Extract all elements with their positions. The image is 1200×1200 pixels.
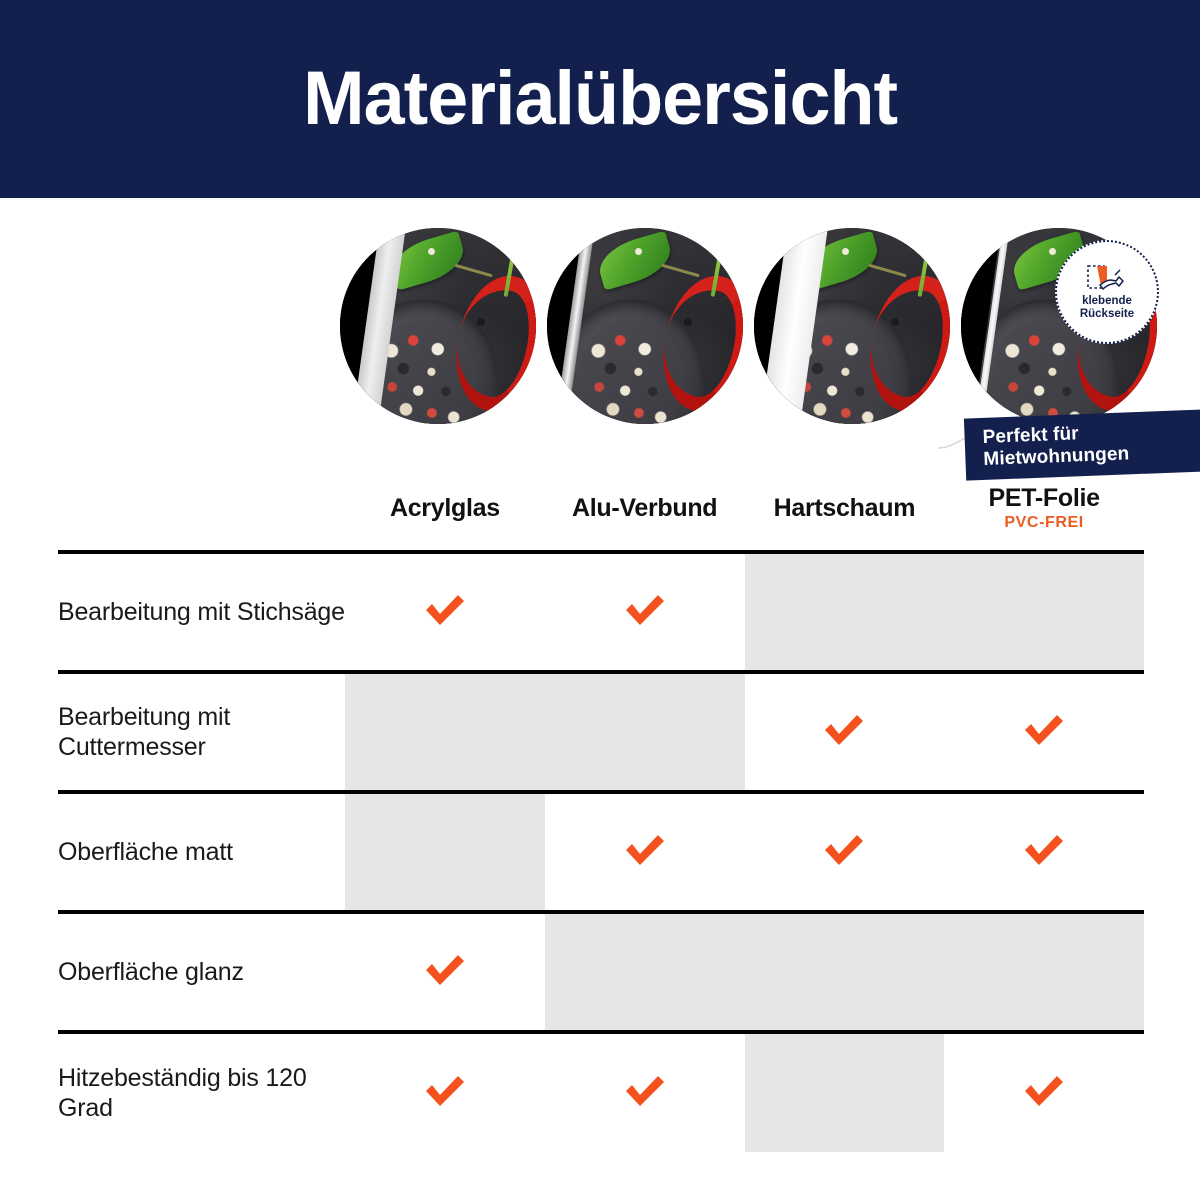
table-row: Oberfläche glanz xyxy=(58,912,1144,1032)
adhesive-badge-line1: klebende xyxy=(1082,295,1132,307)
product-photo xyxy=(547,228,743,424)
cell-stichsaege-hartschaum xyxy=(745,552,945,672)
row-label-cuttermesser: Bearbeitung mit Cuttermesser xyxy=(58,672,345,792)
row-label-stichsaege: Bearbeitung mit Stichsäge xyxy=(58,552,345,672)
rental-apartment-ribbon: Perfekt für Mietwohnungen xyxy=(964,409,1200,481)
row-label-oberflaeche-glanz: Oberfläche glanz xyxy=(58,912,345,1032)
material-comparison-table-wrapper: Acrylglas Alu-Verbund Hartschaum PET-Fol… xyxy=(58,466,1144,1152)
column-header-hartschaum: Hartschaum xyxy=(745,466,945,552)
ribbon-line1: Perfekt für xyxy=(982,423,1079,448)
leaf-stem xyxy=(661,264,699,278)
cell-matt-acrylglas xyxy=(345,792,545,912)
peeling-sticker-icon xyxy=(1086,263,1128,293)
peppercorn-speck xyxy=(635,248,642,255)
row-label-oberflaeche-matt: Oberfläche matt xyxy=(58,792,345,912)
adhesive-badge-label: klebende Rückseite xyxy=(1080,295,1134,321)
page-title: Materialübersicht xyxy=(303,61,897,137)
column-header-label: PET-Folie xyxy=(944,485,1144,511)
row-label-hitzebestaendig: Hitzebeständig bis 120 Grad xyxy=(58,1032,345,1152)
ribbon-label: Perfekt für Mietwohnungen xyxy=(982,419,1194,470)
cell-cuttermesser-pet-folie xyxy=(944,672,1144,792)
table-header-corner xyxy=(58,466,345,552)
cell-hitze-pet-folie xyxy=(944,1032,1144,1152)
check-icon xyxy=(622,591,668,629)
cell-matt-alu-verbund xyxy=(545,792,745,912)
product-thumbnail-hartschaum[interactable] xyxy=(754,228,950,424)
check-icon xyxy=(1021,831,1067,869)
product-photo xyxy=(340,228,536,424)
cell-hitze-hartschaum xyxy=(745,1032,945,1152)
column-header-label: Acrylglas xyxy=(345,495,545,521)
adhesive-backing-badge: klebende Rückseite xyxy=(1055,240,1159,344)
product-photo xyxy=(754,228,950,424)
table-row: Bearbeitung mit Stichsäge xyxy=(58,552,1144,672)
column-header-label: Alu-Verbund xyxy=(545,495,745,521)
column-header-acrylglas: Acrylglas xyxy=(345,466,545,552)
leaf-stem xyxy=(454,264,492,278)
adhesive-badge-line2: Rückseite xyxy=(1080,308,1134,320)
cell-matt-pet-folie xyxy=(944,792,1144,912)
column-header-label: Hartschaum xyxy=(745,495,945,521)
peppercorn-speck xyxy=(842,248,849,255)
cell-glanz-acrylglas xyxy=(345,912,545,1032)
product-thumbnail-strip xyxy=(340,228,1160,438)
peppercorn-speck xyxy=(1049,248,1056,255)
header-banner: Materialübersicht xyxy=(0,0,1200,198)
check-icon xyxy=(422,951,468,989)
material-comparison-table: Acrylglas Alu-Verbund Hartschaum PET-Fol… xyxy=(58,466,1144,1152)
product-thumbnail-acrylglas[interactable] xyxy=(340,228,536,424)
peppercorn-speck xyxy=(428,248,435,255)
product-thumbnail-alu-verbund[interactable] xyxy=(547,228,743,424)
check-icon xyxy=(422,591,468,629)
check-icon xyxy=(422,1072,468,1110)
cell-stichsaege-acrylglas xyxy=(345,552,545,672)
cell-cuttermesser-hartschaum xyxy=(745,672,945,792)
leaf-stem xyxy=(868,264,906,278)
cell-stichsaege-pet-folie xyxy=(944,552,1144,672)
cell-cuttermesser-acrylglas xyxy=(345,672,545,792)
ribbon-line2: Mietwohnungen xyxy=(983,443,1130,470)
table-row: Hitzebeständig bis 120 Grad xyxy=(58,1032,1144,1152)
check-icon xyxy=(1021,711,1067,749)
basil-leaf-icon xyxy=(594,230,677,290)
cell-glanz-hartschaum xyxy=(745,912,945,1032)
cell-cuttermesser-alu-verbund xyxy=(545,672,745,792)
check-icon xyxy=(821,711,867,749)
table-row: Bearbeitung mit Cuttermesser xyxy=(58,672,1144,792)
column-header-alu-verbund: Alu-Verbund xyxy=(545,466,745,552)
cell-matt-hartschaum xyxy=(745,792,945,912)
cell-stichsaege-alu-verbund xyxy=(545,552,745,672)
cell-glanz-alu-verbund xyxy=(545,912,745,1032)
check-icon xyxy=(622,831,668,869)
check-icon xyxy=(821,831,867,869)
cell-glanz-pet-folie xyxy=(944,912,1144,1032)
cell-hitze-acrylglas xyxy=(345,1032,545,1152)
table-row: Oberfläche matt xyxy=(58,792,1144,912)
table-body: Bearbeitung mit Stichsäge Bearbeitung mi… xyxy=(58,552,1144,1152)
cell-hitze-alu-verbund xyxy=(545,1032,745,1152)
check-icon xyxy=(622,1072,668,1110)
check-icon xyxy=(1021,1072,1067,1110)
column-header-badge-pvc-frei: PVC-FREI xyxy=(944,515,1144,531)
